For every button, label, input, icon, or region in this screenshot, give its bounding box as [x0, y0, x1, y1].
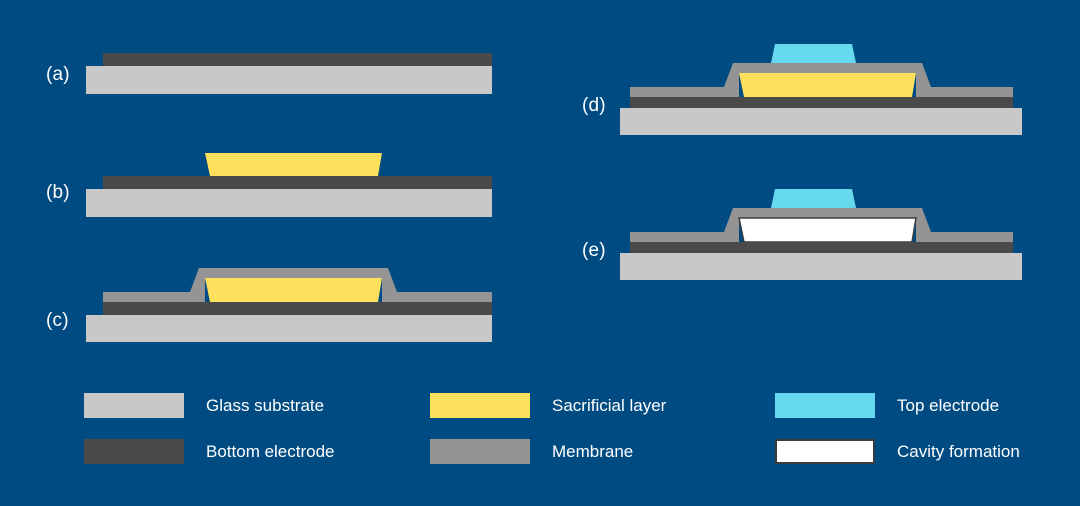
- legend-item-sacrificial-layer: Sacrificial layer: [430, 393, 666, 418]
- sacrificial-layer-shape: [739, 73, 916, 97]
- legend-item-top-electrode: Top electrode: [775, 393, 999, 418]
- legend-swatch-bottom-electrode: [84, 439, 184, 464]
- cavity-shape: [739, 218, 916, 242]
- legend-item-bottom-electrode: Bottom electrode: [84, 439, 335, 464]
- glass-substrate-layer: [86, 315, 492, 342]
- figure-canvas: (a) (b) (c) (d) (e): [0, 0, 1080, 506]
- legend-item-membrane: Membrane: [430, 439, 633, 464]
- legend-label-top-electrode: Top electrode: [897, 396, 999, 416]
- legend-item-cavity-formation: Cavity formation: [775, 439, 1020, 464]
- legend-swatch-sacrificial-layer: [430, 393, 530, 418]
- legend-label-bottom-electrode: Bottom electrode: [206, 442, 335, 462]
- legend-item-glass-substrate: Glass substrate: [84, 393, 324, 418]
- legend-label-cavity-formation: Cavity formation: [897, 442, 1020, 462]
- panel-e-diagram: [620, 185, 1040, 280]
- legend-swatch-glass-substrate: [84, 393, 184, 418]
- panel-a-diagram: [86, 48, 506, 108]
- sacrificial-layer-shape: [205, 278, 382, 302]
- panel-label-d: (d): [582, 95, 606, 117]
- panel-label-c: (c): [46, 310, 69, 332]
- glass-substrate-layer: [86, 189, 492, 217]
- legend-swatch-membrane: [430, 439, 530, 464]
- top-electrode-shape: [771, 189, 856, 208]
- legend-swatch-cavity-formation: [775, 439, 875, 464]
- panel-label-a: (a): [46, 64, 70, 86]
- glass-substrate-layer: [620, 253, 1022, 280]
- legend-label-sacrificial-layer: Sacrificial layer: [552, 396, 666, 416]
- bottom-electrode-layer: [103, 176, 492, 189]
- panel-label-b: (b): [46, 182, 70, 204]
- glass-substrate-layer: [620, 108, 1022, 135]
- panel-label-e: (e): [582, 240, 606, 262]
- legend-swatch-top-electrode: [775, 393, 875, 418]
- bottom-electrode-layer: [630, 242, 1013, 253]
- glass-substrate-layer: [86, 66, 492, 94]
- panel-d-diagram: [620, 40, 1040, 135]
- bottom-electrode-layer: [630, 97, 1013, 108]
- sacrificial-layer-shape: [205, 153, 382, 176]
- legend-label-membrane: Membrane: [552, 442, 633, 462]
- panel-b-diagram: [86, 145, 506, 220]
- top-electrode-shape: [771, 44, 856, 63]
- bottom-electrode-layer: [103, 53, 492, 66]
- legend-label-glass-substrate: Glass substrate: [206, 396, 324, 416]
- panel-c-diagram: [86, 262, 506, 342]
- bottom-electrode-layer: [103, 302, 492, 315]
